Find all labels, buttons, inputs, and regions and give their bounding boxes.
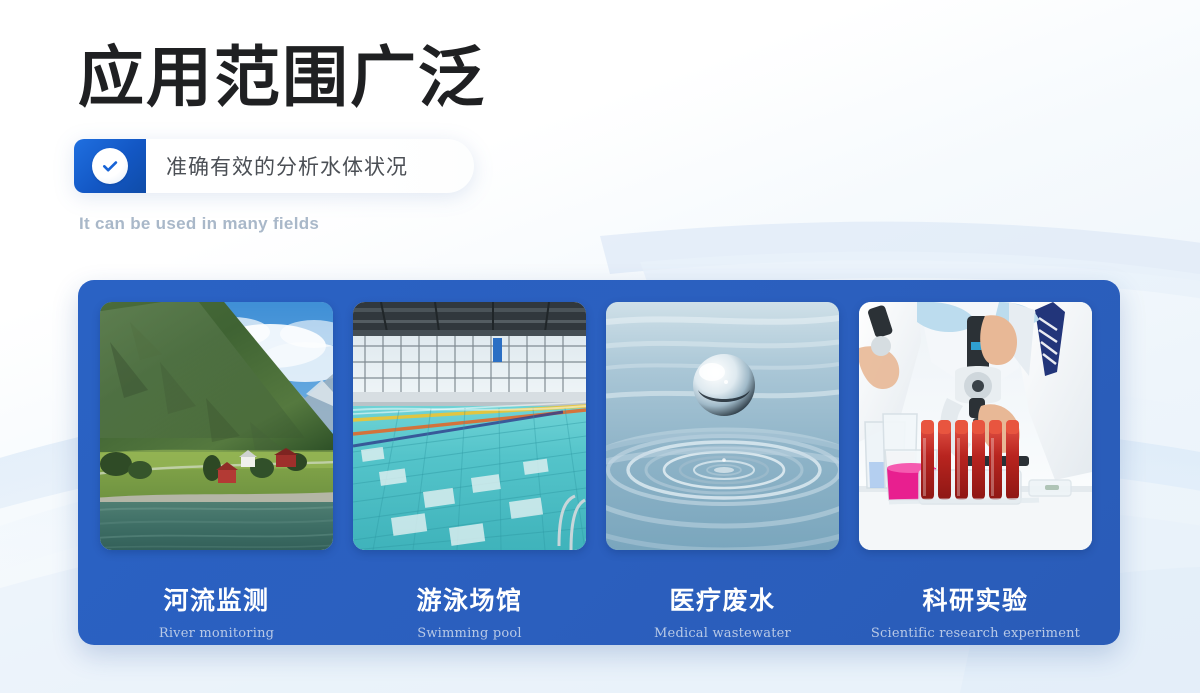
header-section: 应用范围广泛	[78, 42, 778, 113]
application-card[interactable]: 游泳场馆 Swimming pool	[353, 302, 586, 641]
water-droplet-ripple-photo	[606, 302, 839, 550]
page-title: 应用范围广泛	[78, 42, 778, 113]
card-title: 河流监测	[163, 581, 269, 617]
card-subtitle: Scientific research experiment	[871, 626, 1080, 641]
application-card[interactable]: 科研实验 Scientific research experiment	[859, 302, 1092, 641]
highlight-badge: 准确有效的分析水体状况	[74, 139, 474, 193]
card-title: 科研实验	[922, 581, 1028, 617]
card-title: 游泳场馆	[416, 581, 522, 617]
check-circle-icon	[92, 148, 128, 184]
card-title: 医疗废水	[669, 581, 775, 617]
card-subtitle: Swimming pool	[417, 626, 522, 641]
application-card[interactable]: 河流监测 River monitoring	[100, 302, 333, 641]
card-subtitle: Medical wastewater	[654, 626, 791, 641]
indoor-swimming-pool-photo	[353, 302, 586, 550]
badge-icon-block	[74, 139, 146, 193]
page-subtitle: It can be used in many fields	[79, 214, 319, 234]
application-card[interactable]: 医疗废水 Medical wastewater	[606, 302, 839, 641]
laboratory-microscope-test-tubes-photo	[859, 302, 1092, 550]
mountain-river-landscape-photo	[100, 302, 333, 550]
card-subtitle: River monitoring	[159, 626, 274, 641]
badge-pill: 准确有效的分析水体状况	[144, 139, 474, 193]
badge-label: 准确有效的分析水体状况	[166, 151, 408, 181]
applications-panel: 河流监测 River monitoring	[78, 280, 1120, 645]
